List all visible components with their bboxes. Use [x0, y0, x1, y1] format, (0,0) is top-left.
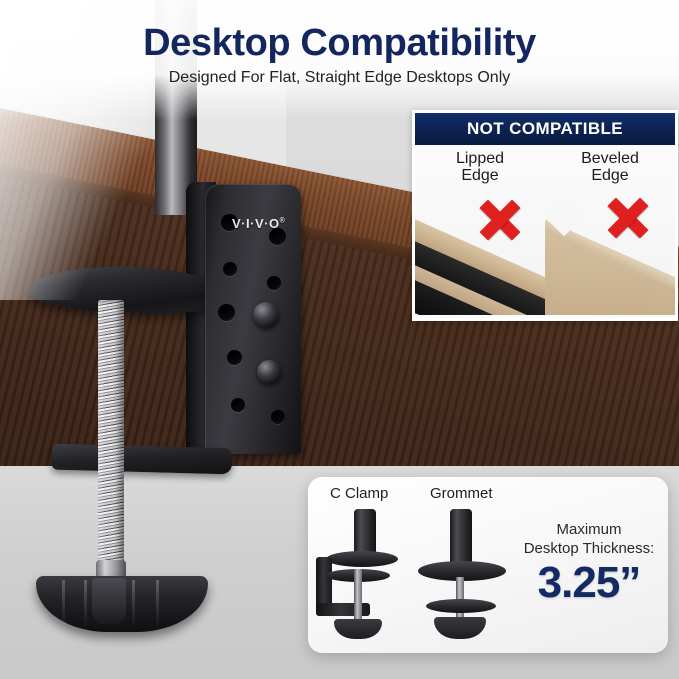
plate-boss: [253, 302, 279, 328]
red-x-icon: [477, 197, 523, 243]
knob-rib: [84, 580, 87, 628]
clamp-threaded-screw: [98, 300, 124, 565]
subtitle-text: Designed For Flat, Straight Edge Desktop…: [0, 69, 679, 87]
title-text: Desktop Compatibility: [0, 22, 679, 65]
c-clamp-top-disc: [326, 551, 398, 567]
knob-center-grip: [92, 578, 126, 624]
plate-hole: [223, 262, 237, 276]
beveled-edge-example: Beveled Edge: [545, 145, 675, 315]
max-thickness-line2: Desktop Thickness:: [514, 540, 664, 559]
mounting-options-card: C Clamp Grommet Maximum Desktop Thicknes…: [308, 477, 668, 653]
plate-hole: [271, 410, 285, 424]
not-compatible-panel: NOT COMPATIBLE Lipped Edge: [412, 110, 678, 321]
not-compatible-body: Lipped Edge Beveled Edge: [415, 145, 675, 315]
plate-hole: [218, 304, 235, 321]
grommet-post: [450, 509, 472, 567]
c-clamp-shaft: [354, 569, 362, 625]
trademark-symbol: ®: [280, 218, 286, 225]
page-title: Desktop Compatibility Designed For Flat,…: [0, 22, 679, 87]
lipped-edge-label: Lipped Edge: [415, 145, 545, 185]
beveled-edge-label-line2: Edge: [545, 167, 675, 184]
not-compatible-header: NOT COMPATIBLE: [415, 113, 675, 145]
plate-hole: [267, 276, 281, 290]
grommet-label: Grommet: [430, 485, 493, 502]
beveled-edge-label-line1: Beveled: [545, 150, 675, 167]
clamp-lower-arm: [52, 444, 233, 475]
max-thickness-value: 3.25”: [514, 561, 664, 605]
plate-hole: [231, 398, 245, 412]
vivo-logo-text: V·I·V·O: [232, 216, 280, 231]
knob-rib: [62, 580, 65, 628]
knob-rib: [156, 580, 159, 628]
lipped-edge-label-line2: Edge: [415, 167, 545, 184]
red-x-icon: [605, 195, 651, 241]
lipped-edge-example: Lipped Edge: [415, 145, 545, 315]
c-clamp-label: C Clamp: [330, 485, 388, 502]
grommet-knob: [434, 617, 486, 639]
max-thickness-spec: Maximum Desktop Thickness: 3.25”: [514, 521, 664, 605]
c-clamp-knob: [334, 619, 382, 639]
plate-boss: [257, 360, 281, 384]
beveled-edge-label: Beveled Edge: [545, 145, 675, 185]
vivo-brand-logo: V·I·V·O®: [232, 216, 285, 231]
max-thickness-line1: Maximum: [514, 521, 664, 540]
grommet-lower-disc: [426, 599, 496, 613]
lipped-edge-label-line1: Lipped: [415, 150, 545, 167]
knob-rib: [132, 580, 135, 628]
infographic-canvas: V·I·V·O® Desktop Compatibility Designed …: [0, 0, 679, 679]
plate-hole: [227, 350, 242, 365]
